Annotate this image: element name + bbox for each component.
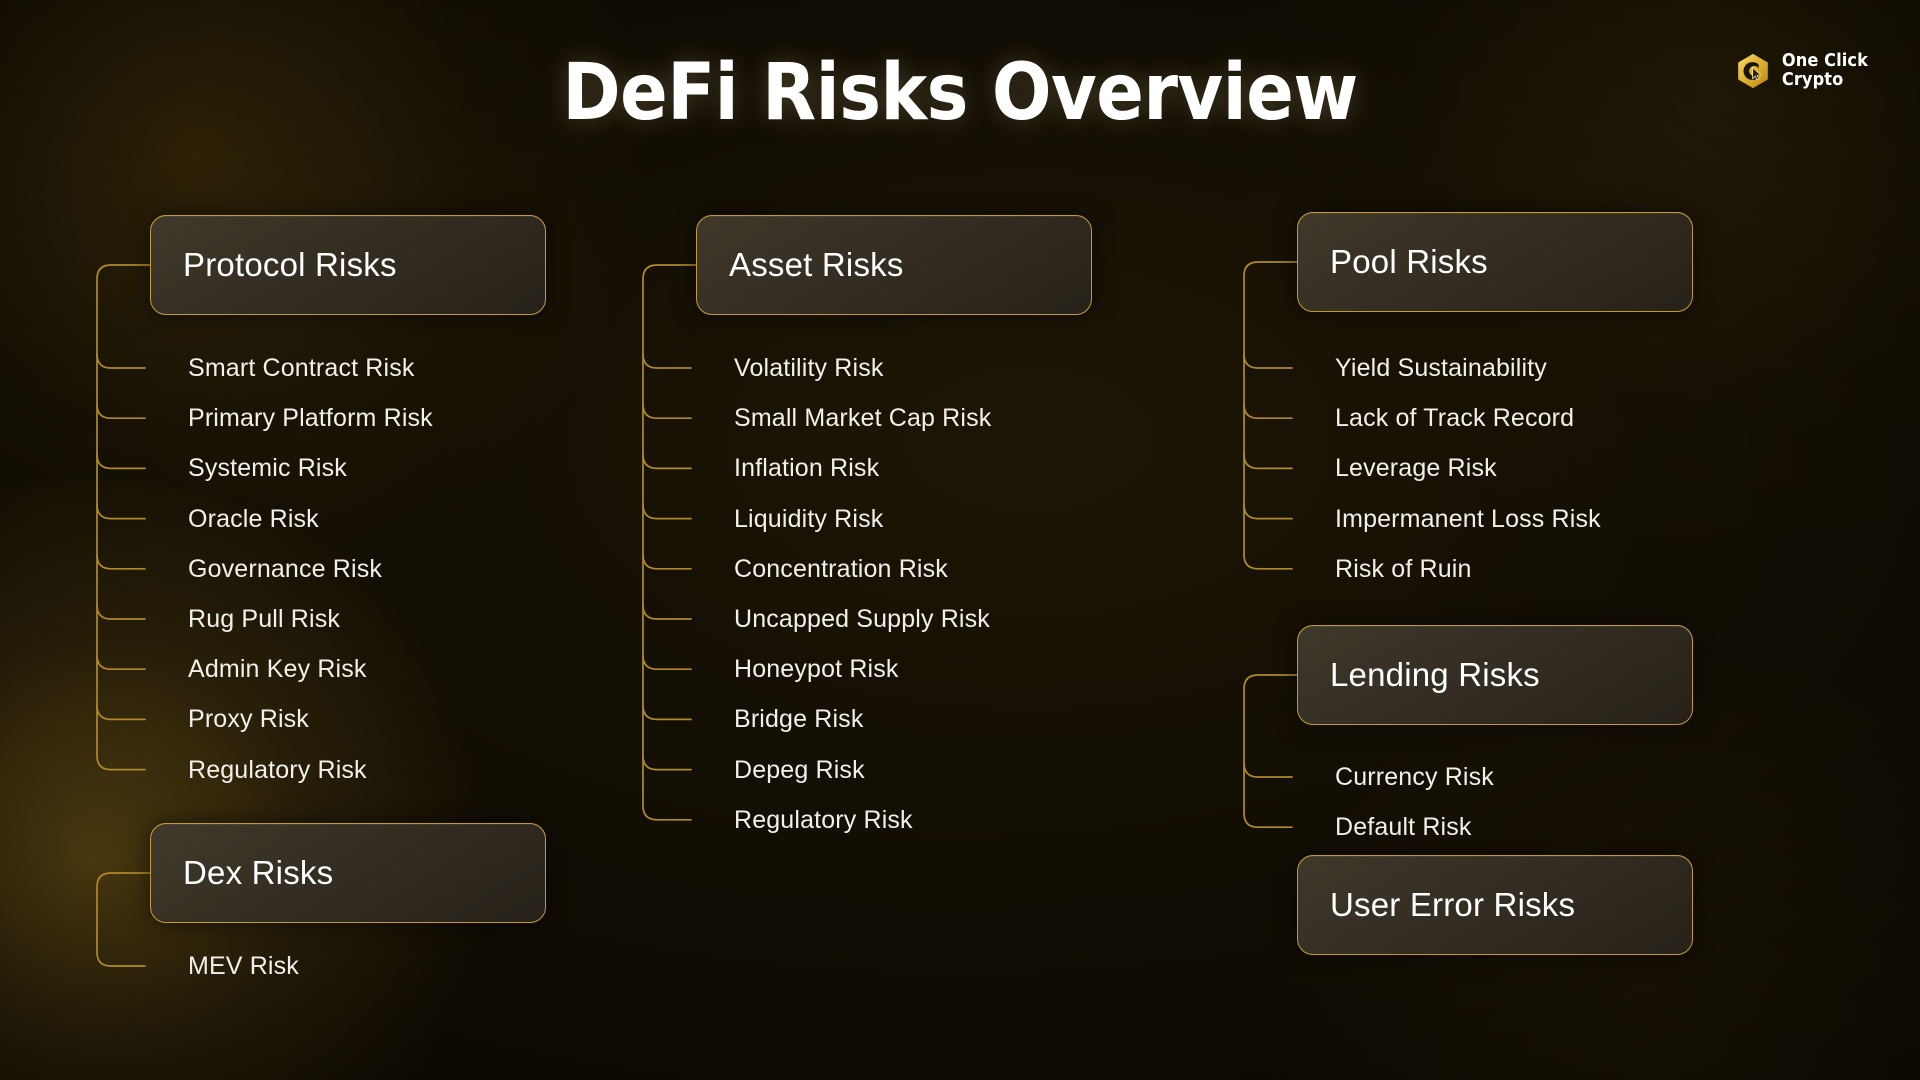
leaf-item[interactable]: Volatility Risk (734, 356, 884, 381)
leaf-item[interactable]: Depeg Risk (734, 758, 865, 783)
group-header-label: Pool Risks (1298, 243, 1488, 281)
leaf-item[interactable]: Honeypot Risk (734, 657, 899, 682)
leaf-item[interactable]: Uncapped Supply Risk (734, 607, 990, 632)
leaf-item[interactable]: Currency Risk (1335, 765, 1494, 790)
group-header-label: Protocol Risks (151, 246, 397, 284)
leaf-item[interactable]: Liquidity Risk (734, 507, 883, 532)
leaf-item[interactable]: Systemic Risk (188, 456, 347, 481)
leaf-item[interactable]: Admin Key Risk (188, 657, 367, 682)
leaf-item[interactable]: Governance Risk (188, 557, 382, 582)
leaf-item[interactable]: Yield Sustainability (1335, 356, 1547, 381)
group-header-label: Asset Risks (697, 246, 904, 284)
leaf-item[interactable]: Leverage Risk (1335, 456, 1497, 481)
one-click-crypto-hex-cursor-icon (1734, 52, 1772, 90)
leaf-item[interactable]: Concentration Risk (734, 557, 948, 582)
group-header-label: Dex Risks (151, 854, 333, 892)
group-header-lending-risks[interactable]: Lending Risks (1297, 625, 1693, 725)
leaf-item[interactable]: Primary Platform Risk (188, 406, 433, 431)
group-header-dex-risks[interactable]: Dex Risks (150, 823, 546, 923)
leaf-item[interactable]: Inflation Risk (734, 456, 879, 481)
brand-line-2: Crypto (1782, 71, 1868, 90)
brand-wordmark: One Click Crypto (1782, 52, 1868, 89)
leaf-item[interactable]: Bridge Risk (734, 707, 863, 732)
group-header-user-error-risks[interactable]: User Error Risks (1297, 855, 1693, 955)
group-header-asset-risks[interactable]: Asset Risks (696, 215, 1092, 315)
leaf-item[interactable]: Impermanent Loss Risk (1335, 507, 1601, 532)
leaf-item[interactable]: Regulatory Risk (734, 808, 913, 833)
leaf-item[interactable]: Rug Pull Risk (188, 607, 340, 632)
leaf-item[interactable]: Default Risk (1335, 815, 1472, 840)
leaf-item[interactable]: Risk of Ruin (1335, 557, 1472, 582)
leaf-item[interactable]: Small Market Cap Risk (734, 406, 991, 431)
brand-logo[interactable]: One Click Crypto (1734, 52, 1868, 90)
leaf-item[interactable]: Oracle Risk (188, 507, 319, 532)
group-header-label: Lending Risks (1298, 656, 1540, 694)
leaf-item[interactable]: Lack of Track Record (1335, 406, 1574, 431)
leaf-item[interactable]: MEV Risk (188, 954, 299, 979)
group-header-label: User Error Risks (1298, 886, 1575, 924)
leaf-item[interactable]: Proxy Risk (188, 707, 309, 732)
leaf-item[interactable]: Smart Contract Risk (188, 356, 415, 381)
group-header-pool-risks[interactable]: Pool Risks (1297, 212, 1693, 312)
leaf-item[interactable]: Regulatory Risk (188, 758, 367, 783)
group-header-protocol-risks[interactable]: Protocol Risks (150, 215, 546, 315)
page-title: DeFi Risks Overview (0, 48, 1920, 138)
